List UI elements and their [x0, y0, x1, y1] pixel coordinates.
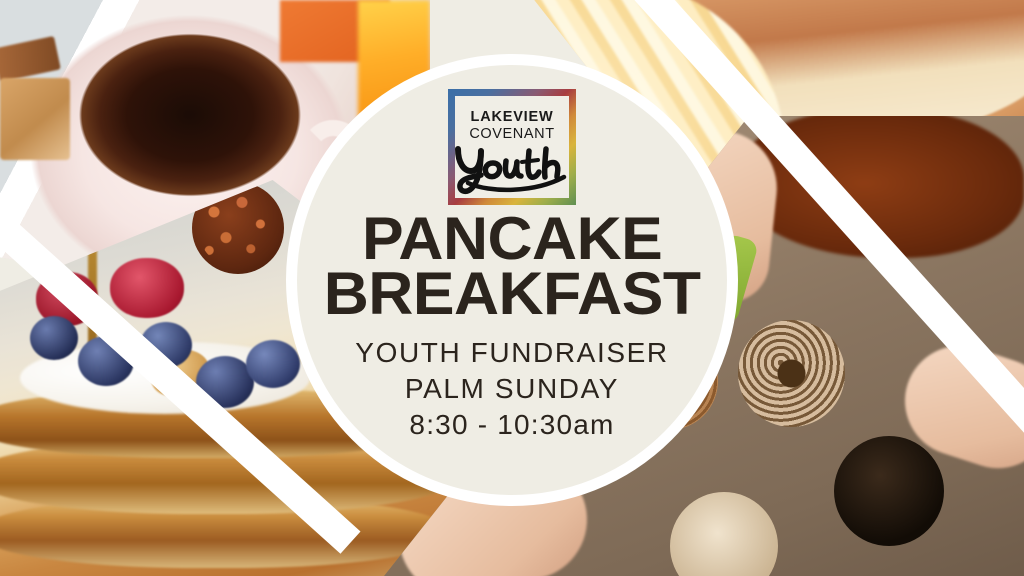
center-content-circle: LAKEVIEW COVENANT [286, 54, 738, 506]
headline-line-two: BREAKFAST [324, 266, 701, 321]
foam-coffee-mug-shape [724, 306, 859, 441]
detail-line-date: PALM SUNDAY [405, 373, 619, 405]
detail-line-time: 8:30 - 10:30am [409, 409, 614, 441]
page-title: PANCAKE BREAKFAST [324, 211, 701, 321]
lakeview-covenant-youth-logo: LAKEVIEW COVENANT [448, 89, 576, 205]
latte-mug-shape [654, 476, 794, 576]
brown-sugar-shape [0, 78, 70, 160]
youth-script-lettering [448, 133, 576, 197]
pancake-breakfast-poster: LAKEVIEW COVENANT [0, 0, 1024, 576]
blueberry-shape-four [246, 340, 300, 388]
raspberry-shape-one [110, 258, 184, 318]
detail-line-fundraiser: YOUTH FUNDRAISER [355, 337, 668, 369]
headline-line-one: PANCAKE [324, 211, 701, 266]
black-coffee-mug-shape [814, 416, 964, 566]
blueberry-shape-five [30, 316, 78, 360]
logo-line-lakeview: LAKEVIEW [471, 110, 554, 125]
cinnamon-stick-shape [0, 36, 61, 82]
